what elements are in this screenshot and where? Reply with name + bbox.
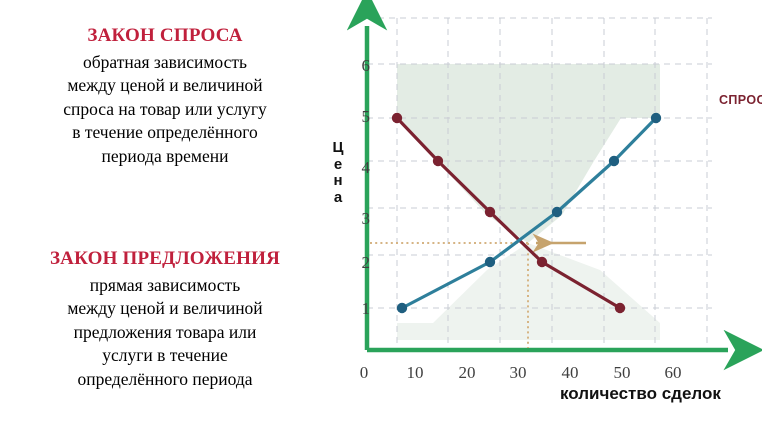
chart-svg: [330, 0, 762, 426]
y-tick-2: 2: [352, 253, 370, 273]
supply-point-11-1: [397, 303, 407, 313]
slide-root: ЗАКОН СПРОСА обратная зависимость между …: [0, 0, 762, 426]
law-of-supply-body: прямая зависимость между ценой и величин…: [0, 274, 330, 391]
law-of-demand-title: ЗАКОН СПРОСА: [0, 26, 330, 47]
supply-point-41-3: [552, 207, 562, 217]
law-of-supply-line-5: определённого периода: [0, 368, 330, 391]
x-axis-title: количество сделок: [560, 384, 721, 404]
supply-point-60-5: [651, 113, 661, 123]
law-of-supply-line-3: предложения товара или: [0, 321, 330, 344]
law-of-demand-line-1: обратная зависимость: [0, 51, 330, 74]
x-tick-60: 60: [661, 363, 685, 383]
law-of-supply-title: ЗАКОН ПРЕДЛОЖЕНИЯ: [0, 249, 330, 270]
law-of-demand-line-3: спроса на товар или услугу: [0, 98, 330, 121]
x-tick-30: 30: [506, 363, 530, 383]
law-of-demand-line-2: между ценой и величиной: [0, 74, 330, 97]
demand-point-28-3: [485, 207, 495, 217]
x-tick-50: 50: [610, 363, 634, 383]
y-axis-title-char-3: н: [327, 173, 349, 190]
y-tick-3: 3: [352, 209, 370, 229]
demand-point-53-1: [615, 303, 625, 313]
y-tick-1: 1: [352, 299, 370, 319]
law-of-supply-line-1: прямая зависимость: [0, 274, 330, 297]
supply-point-52-4: [609, 156, 619, 166]
demand-point-18-4: [433, 156, 443, 166]
law-of-supply-line-4: услуги в течение: [0, 344, 330, 367]
law-of-demand-line-5: периода времени: [0, 145, 330, 168]
shaded-region-surplus: [397, 64, 660, 340]
y-axis-title-char-4: а: [327, 190, 349, 207]
law-of-supply-block: ЗАКОН ПРЕДЛОЖЕНИЯ прямая зависимость меж…: [0, 249, 330, 391]
y-axis-title-char-2: е: [327, 157, 349, 174]
supply-demand-chart: СПРОС ПРЕДЛОЖЕНИЕ ИЗБЫТОК ДЕФИЦИТ БИНГО!: [330, 0, 762, 426]
y-tick-5: 5: [352, 107, 370, 127]
law-of-demand-body: обратная зависимость между ценой и велич…: [0, 51, 330, 168]
x-tick-40: 40: [558, 363, 582, 383]
law-of-demand-line-4: в течение определённого: [0, 121, 330, 144]
law-of-supply-line-2: между ценой и величиной: [0, 297, 330, 320]
y-tick-6: 6: [352, 56, 370, 76]
x-tick-0: 0: [352, 363, 376, 383]
laws-text-column: ЗАКОН СПРОСА обратная зависимость между …: [0, 0, 330, 426]
demand-point-10-5: [392, 113, 402, 123]
x-tick-10: 10: [403, 363, 427, 383]
y-tick-4: 4: [352, 158, 370, 178]
demand-point-38-2: [537, 257, 547, 267]
y-axis-title: Ц е н а: [327, 140, 349, 206]
y-axis-title-char-1: Ц: [327, 140, 349, 157]
x-tick-20: 20: [455, 363, 479, 383]
supply-point-28-2: [485, 257, 495, 267]
law-of-demand-block: ЗАКОН СПРОСА обратная зависимость между …: [0, 26, 330, 168]
demand-series-label: СПРОС: [719, 93, 762, 107]
